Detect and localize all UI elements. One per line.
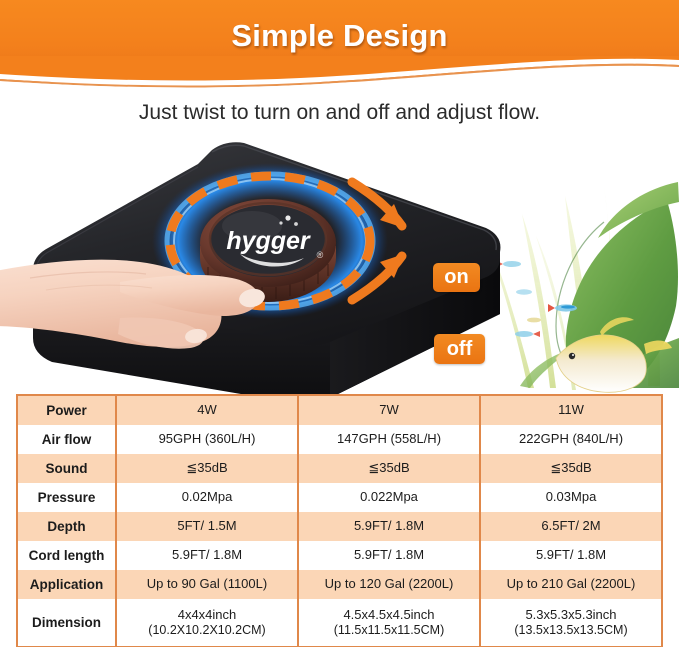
row-label-cord-length: Cord length <box>17 541 116 570</box>
product-illustration: hygger ® <box>0 86 679 396</box>
cell-sound-4w: ≦35dB <box>116 454 298 483</box>
dimension-7w-cm: (11.5x11.5x11.5CM) <box>299 623 479 637</box>
table-row-sound: Sound ≦35dB ≦35dB ≦35dB <box>17 454 662 483</box>
spec-table-body: Power 4W 7W 11W Air flow 95GPH (360L/H) … <box>17 395 662 647</box>
row-label-dimension: Dimension <box>17 599 116 647</box>
dimension-4w-cm: (10.2X10.2X10.2CM) <box>117 623 297 637</box>
registered-mark: ® <box>317 250 324 260</box>
dimension-4w-inch: 4x4x4inch <box>117 608 297 623</box>
cell-depth-11w: 6.5FT/ 2M <box>480 512 662 541</box>
page-title: Simple Design <box>0 18 679 54</box>
table-row-dimension: Dimension 4x4x4inch (10.2X10.2X10.2CM) 4… <box>17 599 662 647</box>
cell-application-4w: Up to 90 Gal (1100L) <box>116 570 298 599</box>
table-row-air-flow: Air flow 95GPH (360L/H) 147GPH (558L/H) … <box>17 425 662 454</box>
cell-cord-7w: 5.9FT/ 1.8M <box>298 541 480 570</box>
row-label-air-flow: Air flow <box>17 425 116 454</box>
cell-depth-4w: 5FT/ 1.5M <box>116 512 298 541</box>
brand-text: hygger <box>226 227 311 255</box>
spec-table-container: Power 4W 7W 11W Air flow 95GPH (360L/H) … <box>16 394 663 639</box>
infographic-page: hygger ® <box>0 0 679 647</box>
cell-airflow-11w: 222GPH (840L/H) <box>480 425 662 454</box>
table-row-power: Power 4W 7W 11W <box>17 395 662 425</box>
row-label-pressure: Pressure <box>17 483 116 512</box>
cell-airflow-7w: 147GPH (558L/H) <box>298 425 480 454</box>
table-row-cord-length: Cord length 5.9FT/ 1.8M 5.9FT/ 1.8M 5.9F… <box>17 541 662 570</box>
cell-dimension-7w: 4.5x4.5x4.5inch (11.5x11.5x11.5CM) <box>298 599 480 647</box>
cell-cord-4w: 5.9FT/ 1.8M <box>116 541 298 570</box>
row-label-depth: Depth <box>17 512 116 541</box>
badge-off: off <box>434 334 485 364</box>
cell-pressure-7w: 0.022Mpa <box>298 483 480 512</box>
cell-sound-7w: ≦35dB <box>298 454 480 483</box>
badge-on: on <box>433 263 480 292</box>
cell-application-7w: Up to 120 Gal (2200L) <box>298 570 480 599</box>
cell-cord-11w: 5.9FT/ 1.8M <box>480 541 662 570</box>
row-label-application: Application <box>17 570 116 599</box>
table-row-application: Application Up to 90 Gal (1100L) Up to 1… <box>17 570 662 599</box>
cell-power-4w: 4W <box>116 395 298 425</box>
subtitle-text: Just twist to turn on and off and adjust… <box>0 101 679 125</box>
dimension-11w-inch: 5.3x5.3x5.3inch <box>481 608 661 623</box>
spec-table: Power 4W 7W 11W Air flow 95GPH (360L/H) … <box>16 394 663 647</box>
air-pump-graphic: hygger ® <box>0 86 679 396</box>
cell-application-11w: Up to 210 Gal (2200L) <box>480 570 662 599</box>
dimension-11w-cm: (13.5x13.5x13.5CM) <box>481 623 661 637</box>
table-row-depth: Depth 5FT/ 1.5M 5.9FT/ 1.8M 6.5FT/ 2M <box>17 512 662 541</box>
cell-depth-7w: 5.9FT/ 1.8M <box>298 512 480 541</box>
row-label-power: Power <box>17 395 116 425</box>
table-row-pressure: Pressure 0.02Mpa 0.022Mpa 0.03Mpa <box>17 483 662 512</box>
cell-sound-11w: ≦35dB <box>480 454 662 483</box>
cell-power-7w: 7W <box>298 395 480 425</box>
cell-airflow-4w: 95GPH (360L/H) <box>116 425 298 454</box>
cell-power-11w: 11W <box>480 395 662 425</box>
cell-pressure-11w: 0.03Mpa <box>480 483 662 512</box>
cell-pressure-4w: 0.02Mpa <box>116 483 298 512</box>
row-label-sound: Sound <box>17 454 116 483</box>
cell-dimension-4w: 4x4x4inch (10.2X10.2X10.2CM) <box>116 599 298 647</box>
header-wave-divider <box>0 56 679 92</box>
cell-dimension-11w: 5.3x5.3x5.3inch (13.5x13.5x13.5CM) <box>480 599 662 647</box>
dimension-7w-inch: 4.5x4.5x4.5inch <box>299 608 479 623</box>
